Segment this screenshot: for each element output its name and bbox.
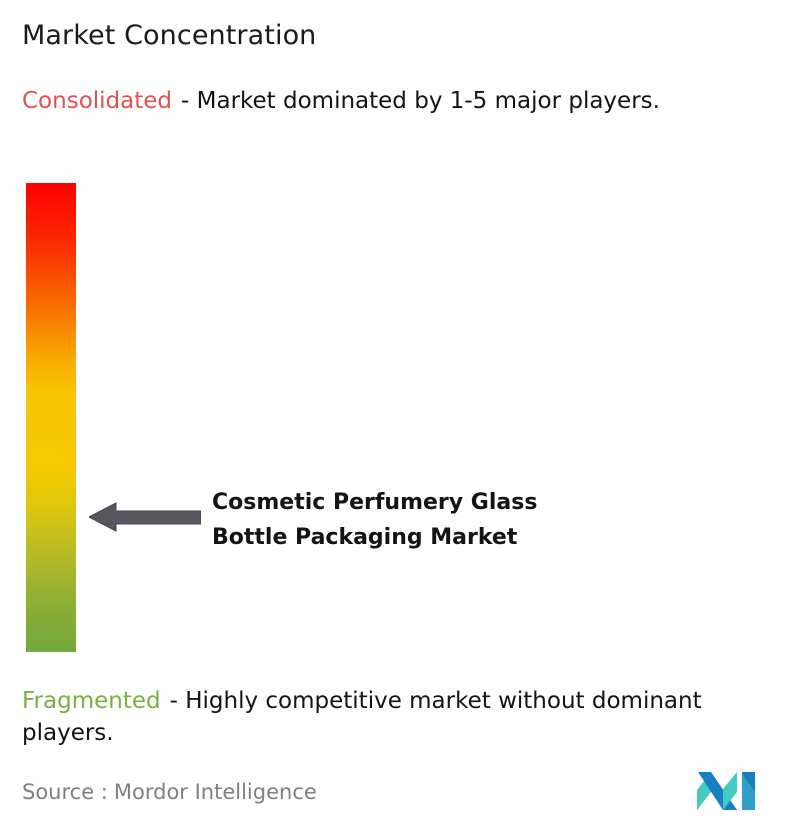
market-pointer-arrow xyxy=(89,502,201,532)
fragmented-caption: Fragmented- Highly competitive market wi… xyxy=(22,685,790,749)
left-arrow-icon xyxy=(89,502,201,532)
market-label: Cosmetic Perfumery Glass Bottle Packagin… xyxy=(212,485,662,555)
source-label: Source : xyxy=(22,780,108,804)
source-value: Mordor Intelligence xyxy=(114,780,317,804)
market-label-line-2: Bottle Packaging Market xyxy=(212,520,662,555)
concentration-scale-bar xyxy=(26,183,76,652)
consolidated-caption: Consolidated- Market dominated by 1-5 ma… xyxy=(22,85,766,117)
consolidated-description: - Market dominated by 1-5 major players. xyxy=(181,88,660,114)
consolidated-term: Consolidated xyxy=(22,88,172,114)
mi-monogram-icon xyxy=(697,772,759,810)
mordor-intelligence-logo xyxy=(697,772,759,810)
source-line: Source :Mordor Intelligence xyxy=(22,780,317,804)
fragmented-term: Fragmented xyxy=(22,688,161,714)
page-title: Market Concentration xyxy=(22,20,316,51)
market-concentration-infographic: Market Concentration Consolidated- Marke… xyxy=(0,0,796,834)
market-label-line-1: Cosmetic Perfumery Glass xyxy=(212,485,662,520)
